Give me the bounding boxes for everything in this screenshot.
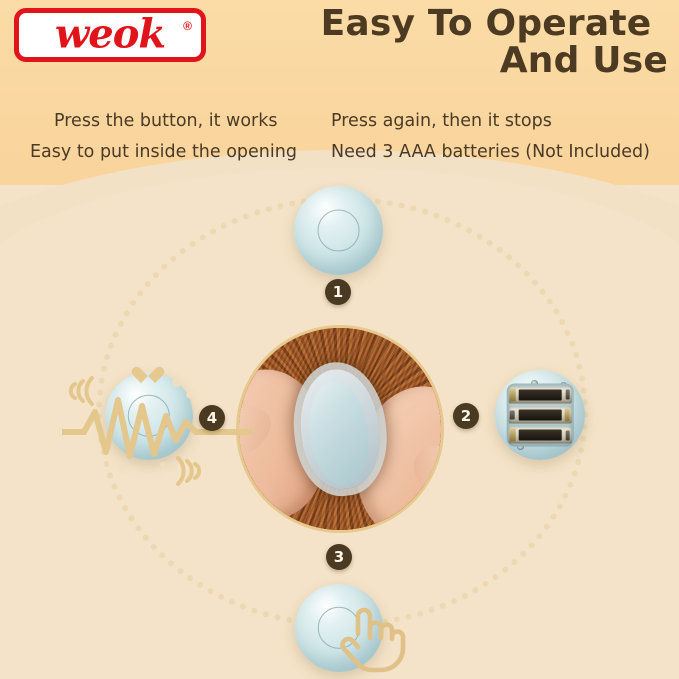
right-thumb [405, 437, 444, 506]
device-step-3 [295, 584, 383, 672]
page-title-line-1: Easy To Operate [321, 3, 652, 44]
infographic-canvas: weok ® Easy To Operate And Use Press the… [0, 0, 679, 679]
device-step-2-battery-compartment [495, 370, 585, 460]
battery-label [519, 389, 562, 400]
battery-positive-terminal-icon [564, 409, 570, 422]
battery-negative-terminal-icon [510, 410, 514, 420]
page-title: Easy To Operate And Use [300, 6, 672, 79]
step-badge-1: 1 [325, 279, 351, 305]
aaa-battery [509, 427, 572, 444]
decor-bubble [172, 378, 181, 387]
subtitle-press-again: Press again, then it stops [331, 111, 552, 131]
battery-plate [507, 384, 574, 447]
subtitle-put-inside: Easy to put inside the opening [30, 142, 297, 162]
device-button-outline [128, 395, 170, 437]
aaa-battery [509, 387, 572, 404]
page-title-line-2: And Use [300, 43, 672, 80]
device-button-outline [317, 209, 360, 252]
aaa-battery [509, 407, 572, 424]
battery-negative-terminal-icon [566, 390, 570, 400]
battery-label [519, 430, 562, 441]
device-step-1 [294, 186, 383, 275]
battery-positive-terminal-icon [510, 388, 516, 401]
step-badge-4: 4 [199, 405, 225, 431]
battery-positive-terminal-icon [510, 429, 516, 442]
brand-logo-text: weok [55, 11, 165, 58]
center-photo-hands-inserting-device [236, 325, 444, 533]
device-button-outline [318, 607, 360, 649]
left-thumb [236, 397, 280, 466]
decor-bubble [118, 466, 125, 473]
step-badge-2: 2 [453, 403, 479, 429]
battery-negative-terminal-icon [566, 430, 570, 440]
subtitle-press-button: Press the button, it works [54, 111, 278, 131]
registered-trademark-icon: ® [183, 19, 192, 33]
decor-bubble [160, 462, 165, 467]
subtitle-batteries: Need 3 AAA batteries (Not Included) [331, 142, 650, 162]
step-badge-3: 3 [326, 544, 352, 570]
decor-bubble [186, 392, 192, 398]
brand-logo: weok ® [14, 8, 206, 62]
battery-label [519, 410, 562, 421]
